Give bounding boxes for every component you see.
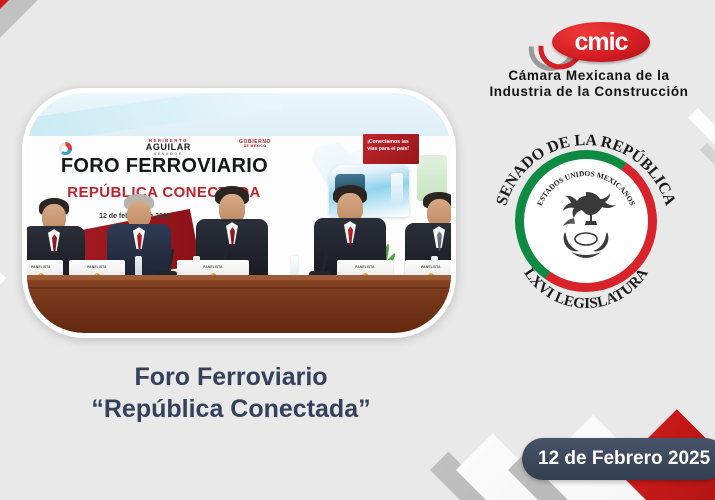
- conference-table: [27, 275, 451, 333]
- nameplate-label: PANELISTA: [405, 265, 451, 269]
- backdrop-callout-text: ¡Conectamos las vías para el país!: [367, 139, 416, 153]
- svg-text:LXVI LEGISLATURA: LXVI LEGISLATURA: [520, 266, 651, 313]
- decor-seam-topright-2: [700, 143, 715, 362]
- caption-line1: Foro Ferroviario: [0, 362, 462, 394]
- cmic-line2: Industria de la Construcción: [489, 84, 689, 99]
- table-seam: [27, 287, 451, 289]
- slide-caption: Foro Ferroviario “República Conectada”: [0, 362, 462, 425]
- cmic-line1: Cámara Mexicana de la: [489, 68, 689, 83]
- nameplate-label: PANELISTA: [337, 265, 393, 269]
- backdrop-title: FORO FERROVIARIO: [61, 155, 268, 178]
- senate-seal: SENADO DE LA REPÚBLICA LXVI LEGISLATURA …: [493, 128, 679, 314]
- cmic-logo: cmic Cámara Mexicana de la Industria de …: [489, 22, 689, 99]
- backdrop-gob-logo: GOBIERNO DE MÉXICO: [239, 140, 271, 149]
- table-edge: [27, 275, 451, 280]
- backdrop-circle-logo-icon: [59, 142, 72, 155]
- nameplate-label: PANELISTA: [69, 265, 125, 269]
- cmic-badge-icon: cmic: [528, 22, 650, 62]
- backdrop-red-callout: ¡Conectamos las vías para el país!: [363, 134, 419, 164]
- event-photo-card: HERIBERTO AGUILAR SENADOR GOBIERNO DE MÉ…: [22, 88, 456, 338]
- caption-line2: “República Conectada”: [0, 394, 462, 426]
- gob-logo-line2: DE MÉXICO: [239, 145, 271, 149]
- nameplate-label: PANELISTA: [27, 265, 63, 269]
- mexican-eagle-icon: [541, 180, 631, 264]
- event-photo: HERIBERTO AGUILAR SENADOR GOBIERNO DE MÉ…: [27, 93, 451, 333]
- backdrop-senator-logo: HERIBERTO AGUILAR SENADOR: [146, 139, 191, 157]
- cmic-wordmark: cmic: [552, 22, 650, 62]
- nameplate-label: PANELISTA: [177, 265, 249, 269]
- slide-canvas: HERIBERTO AGUILAR SENADOR GOBIERNO DE MÉ…: [0, 0, 715, 500]
- seal-bottom-text: LXVI LEGISLATURA: [520, 266, 651, 313]
- date-banner: 12 de Febrero 2025: [522, 438, 715, 480]
